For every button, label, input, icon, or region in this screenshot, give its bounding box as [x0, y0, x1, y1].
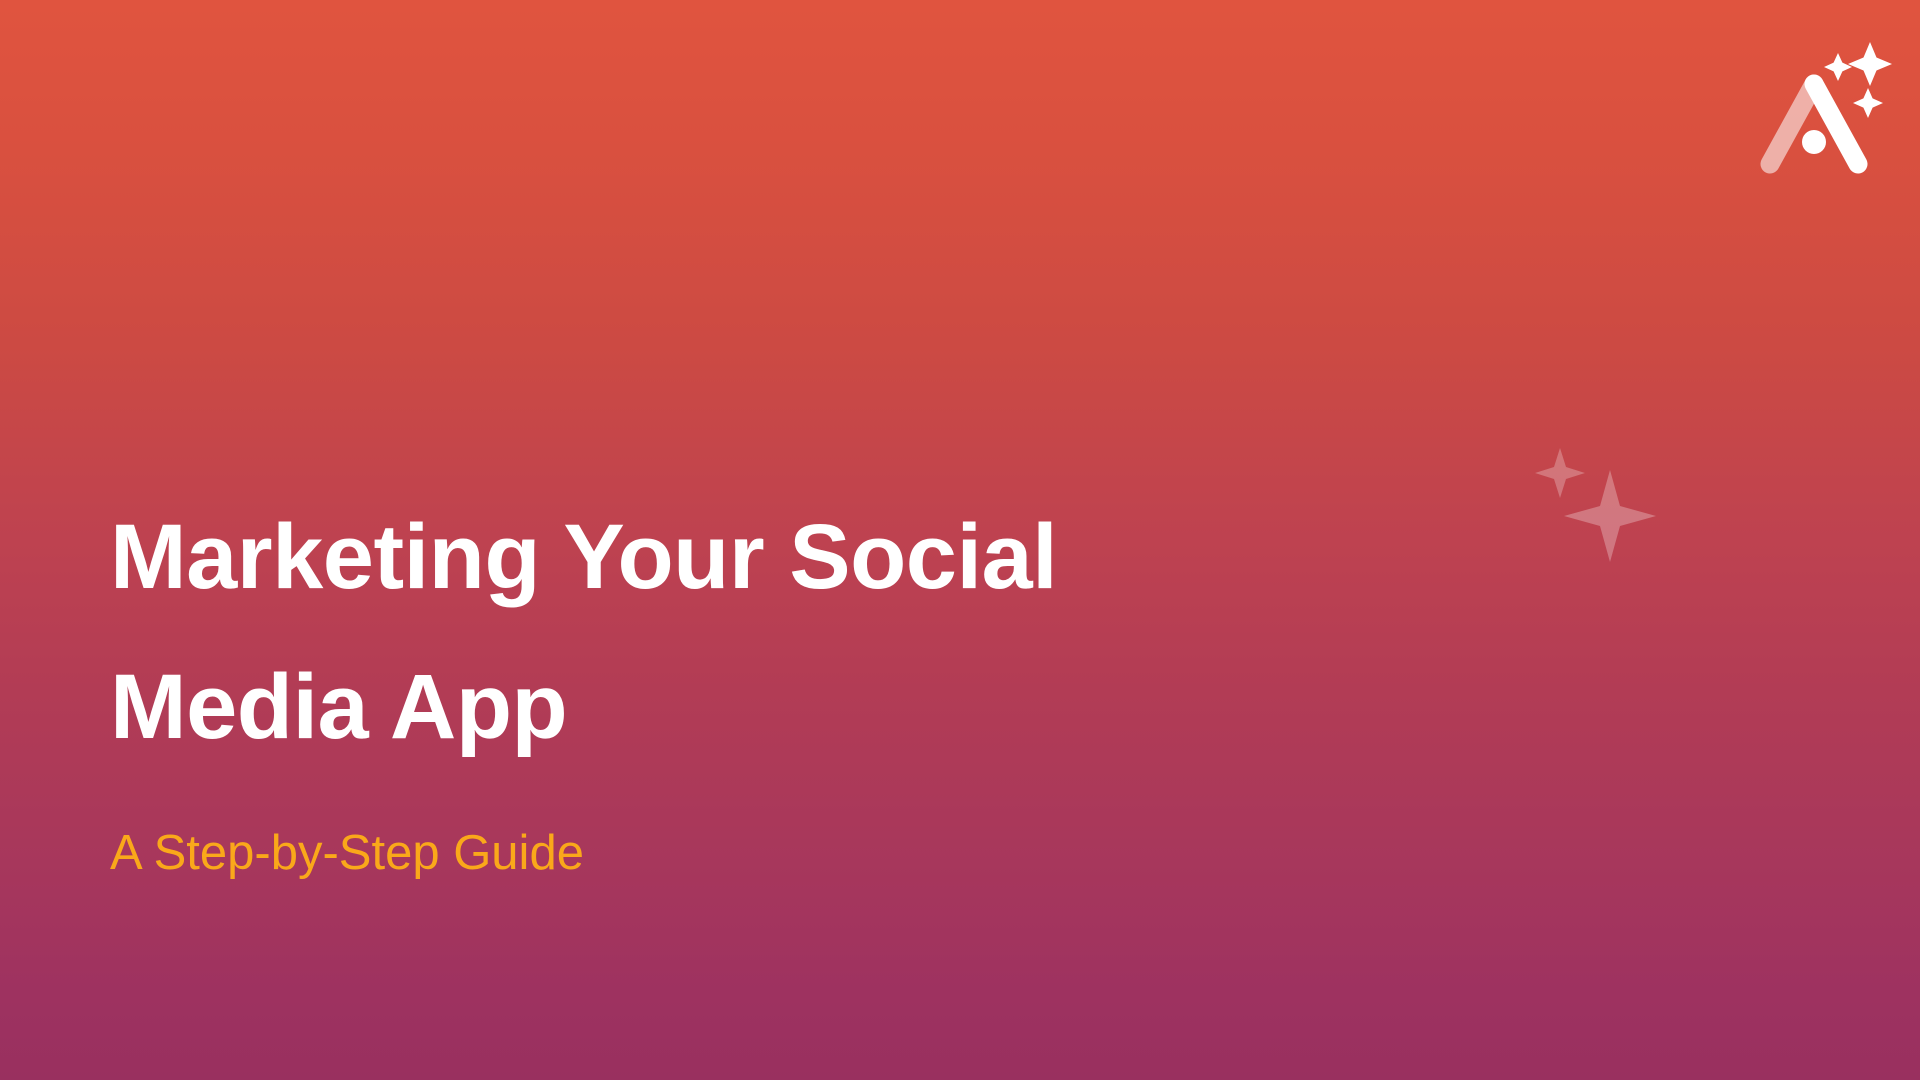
logo-sparkle-small [1824, 53, 1852, 81]
sparkle-cluster [1500, 420, 1680, 580]
title-text-block: Marketing Your Social Media App A Step-b… [110, 482, 1360, 883]
logo-dot [1802, 130, 1826, 154]
logo-sparkle-medium [1853, 88, 1883, 118]
decor-sparkle-small [1535, 448, 1585, 498]
page-subtitle: A Step-by-Step Guide [110, 824, 1360, 883]
page-title: Marketing Your Social Media App [110, 482, 1360, 782]
title-slide: Marketing Your Social Media App A Step-b… [0, 0, 1920, 1080]
decor-sparkle-large [1564, 470, 1656, 562]
brand-logo [1742, 40, 1892, 180]
logo-sparkle-large [1848, 42, 1892, 86]
